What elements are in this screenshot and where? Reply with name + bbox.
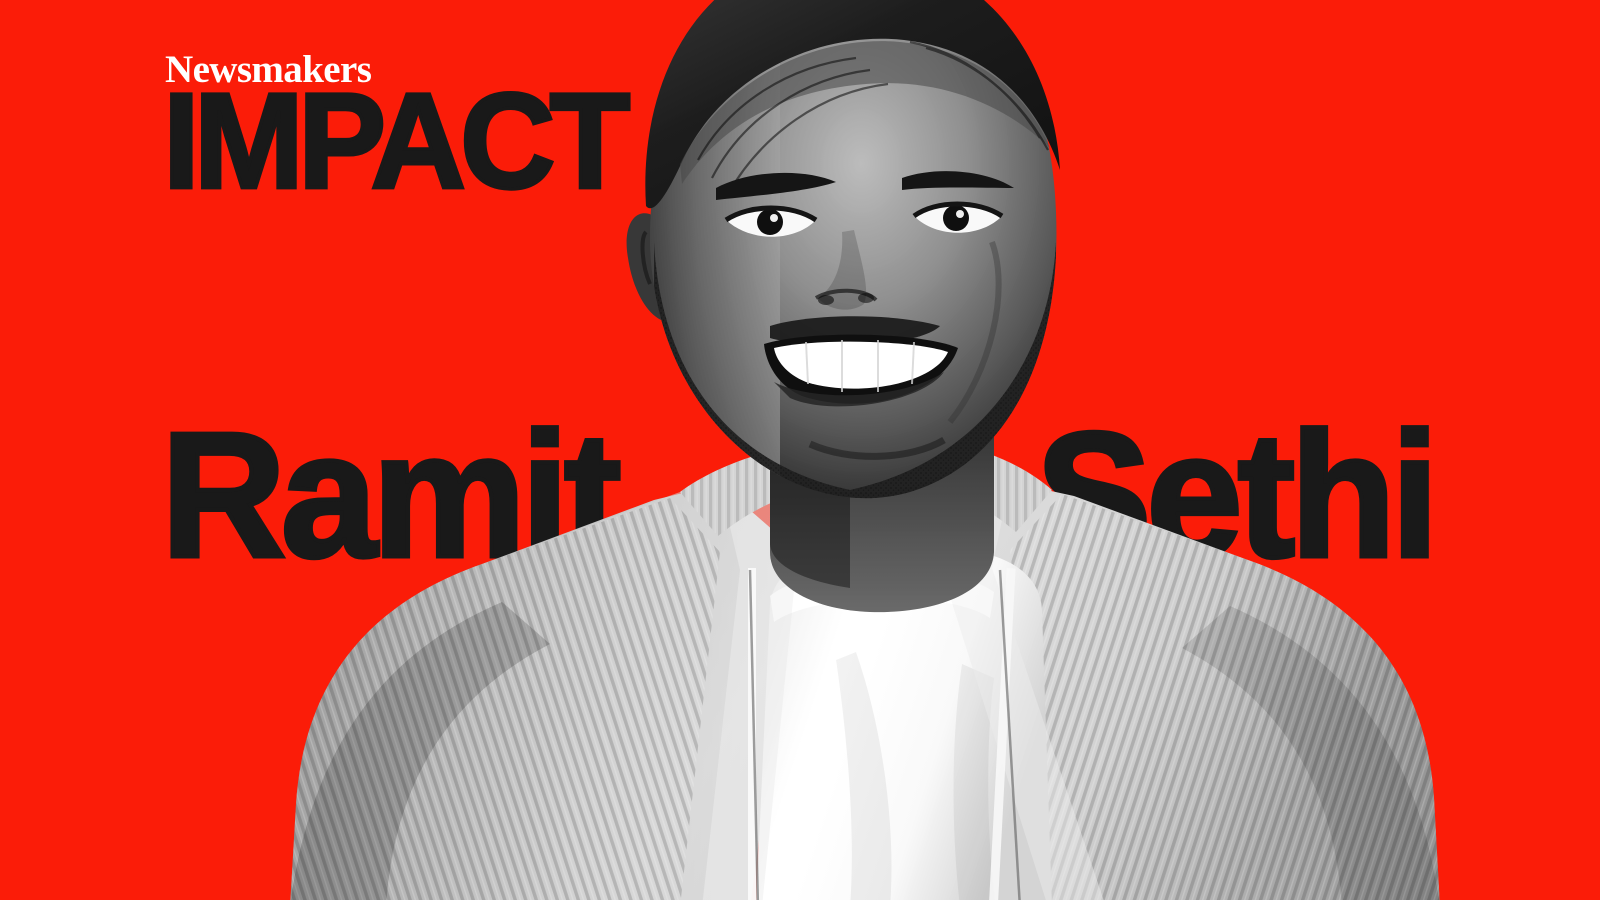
nostril-left [818, 295, 834, 305]
impact-cover-canvas: Ramit Sethi [0, 0, 1600, 900]
portrait-head [627, 0, 1060, 532]
nostril-right [858, 293, 874, 303]
program-wordmark: IMPACT [163, 89, 625, 195]
brand-lockup: Newsmakers IMPACT [163, 52, 611, 189]
